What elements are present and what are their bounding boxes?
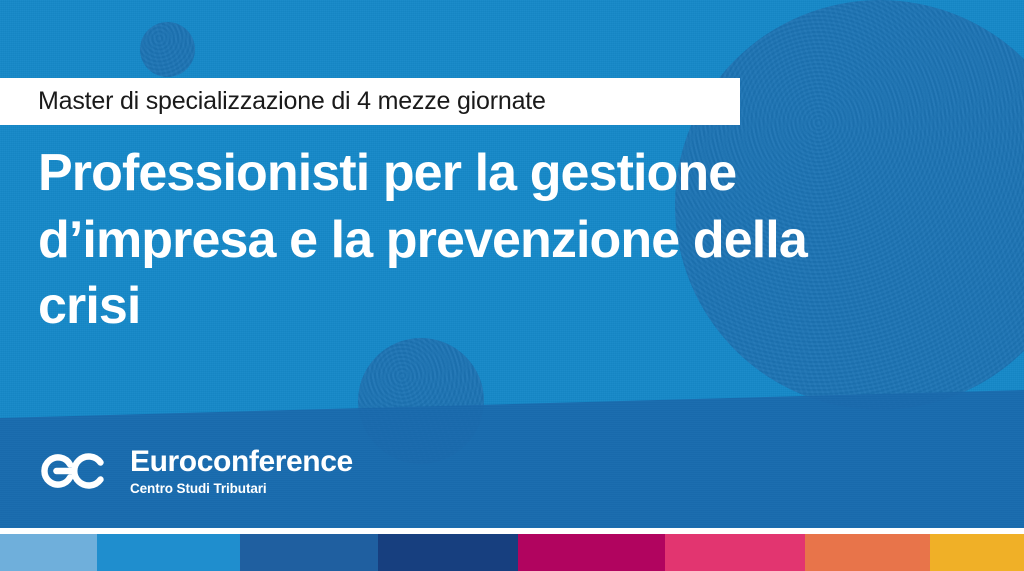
color-strip-segment-light-blue: [0, 534, 97, 571]
color-strip-segment-pink: [665, 534, 805, 571]
color-strip-segment-magenta: [518, 534, 665, 571]
brand-logo: Euroconference Centro Studi Tributari: [40, 447, 353, 496]
decorative-circle-small: [140, 22, 195, 77]
logo-tagline: Centro Studi Tributari: [130, 482, 353, 496]
brand-color-strip: [0, 534, 1024, 571]
logo-name: Euroconference: [130, 447, 353, 477]
color-strip-segment-orange: [805, 534, 930, 571]
color-strip-segment-amber: [930, 534, 1024, 571]
logo-wordmark: Euroconference Centro Studi Tributari: [130, 447, 353, 496]
ec-monogram-icon: [40, 447, 116, 495]
color-strip-segment-blue: [97, 534, 240, 571]
promo-banner: Master di specializzazione di 4 mezze gi…: [0, 0, 1024, 571]
color-strip-segment-dark-blue: [378, 534, 518, 571]
color-strip-segment-medium-blue: [240, 534, 378, 571]
eyebrow-text: Master di specializzazione di 4 mezze gi…: [38, 87, 546, 116]
page-title: Professionisti per la gestione d’impresa…: [38, 140, 953, 340]
headline-line-1: Professionisti per la gestione: [38, 140, 953, 207]
eyebrow-band: Master di specializzazione di 4 mezze gi…: [0, 78, 740, 125]
headline-line-2: d’impresa e la prevenzione della: [38, 207, 953, 274]
headline-line-3: crisi: [38, 273, 953, 340]
